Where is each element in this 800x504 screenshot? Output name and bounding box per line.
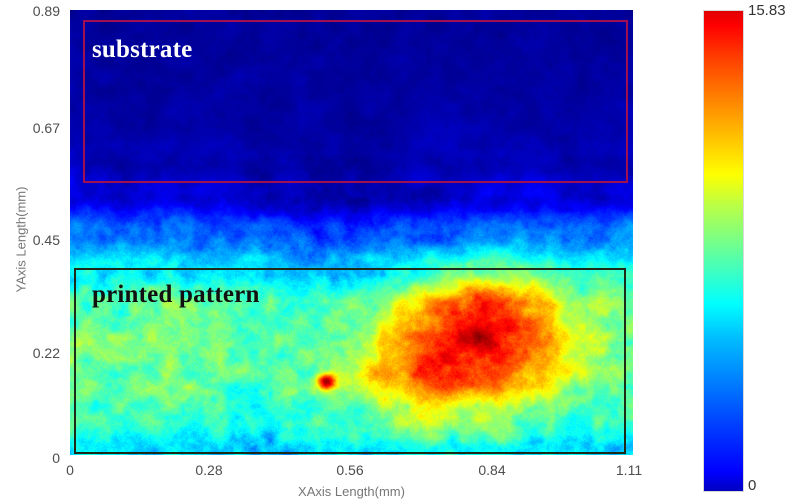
x-axis-title: XAxis Length(mm) [70,484,633,499]
colorbar-max-label: 15.83 [748,2,786,19]
x-tick-028: 0.28 [184,462,234,478]
y-tick-089: 0.89 [0,3,60,19]
y-tick-045: 0.45 [0,232,60,248]
colorbar[interactable] [703,10,744,492]
x-tick-084: 0.84 [467,462,517,478]
y-axis-title: YAxis Length(mm) [14,175,29,305]
y-tick-022: 0.22 [0,345,60,361]
colorbar-min-label: 0 [748,477,756,494]
substrate-label: substrate [92,36,192,64]
x-tick-0: 0 [45,462,95,478]
printed-pattern-label: printed pattern [92,281,260,309]
x-tick-056: 0.56 [325,462,375,478]
x-tick-111: 1.11 [604,462,654,478]
y-tick-067: 0.67 [0,120,60,136]
heatmap-figure: substrate printed pattern 0.89 0.67 0.45… [0,0,800,504]
